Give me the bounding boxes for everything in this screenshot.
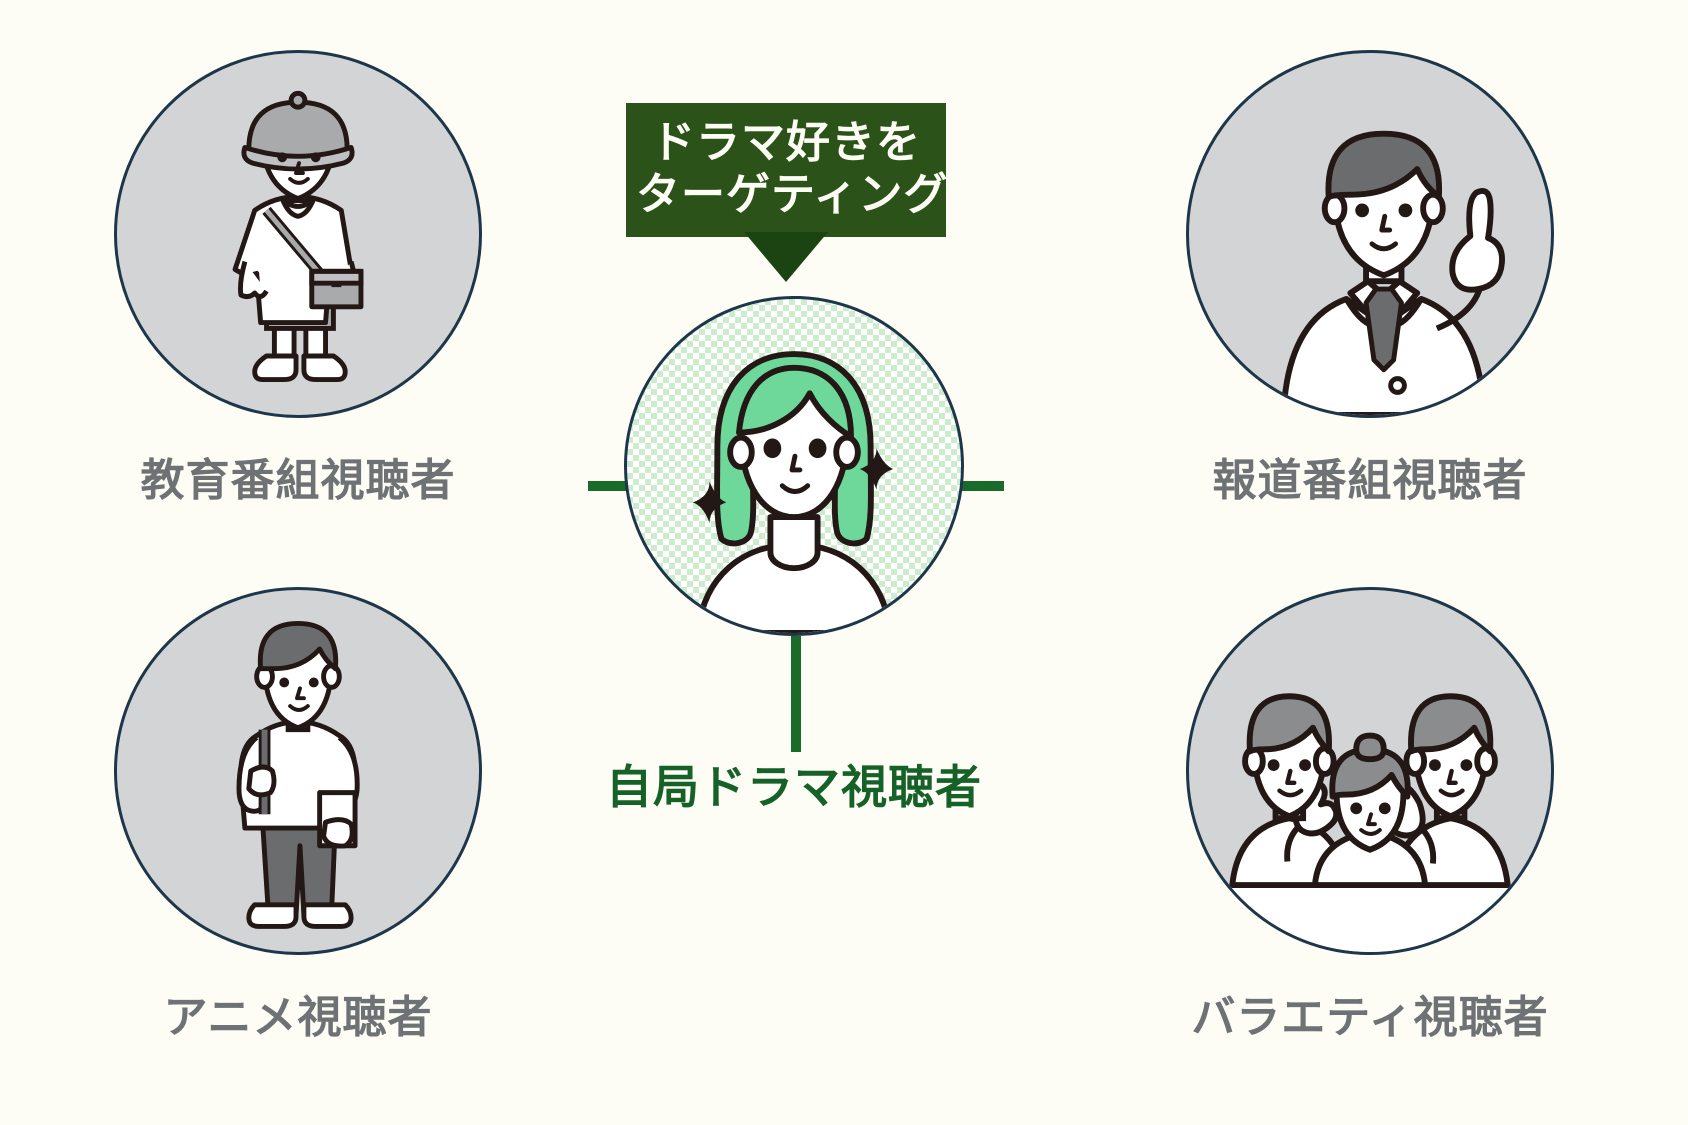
child-with-hat-icon: [117, 53, 479, 415]
node-news-viewers: 報道番組視聴者: [1180, 50, 1560, 508]
woman-green-hair-icon: [627, 299, 961, 633]
center-node-label: 自局ドラマ視聴者: [594, 751, 994, 817]
banner-line-2: ターゲティング: [636, 169, 936, 221]
businessman-pointing-icon: [1189, 53, 1551, 415]
node-br-disc: [1186, 587, 1554, 955]
node-br-label: バラエティ視聴者: [1180, 981, 1560, 1045]
node-tl-label: 教育番組視聴者: [108, 444, 488, 508]
center-avatar-disc: [624, 296, 964, 636]
node-education-viewers: 教育番組視聴者: [108, 50, 488, 508]
banner-down-arrow-icon: [744, 232, 828, 282]
node-variety-viewers: バラエティ視聴者: [1180, 587, 1560, 1045]
node-bl-label: アニメ視聴者: [108, 981, 488, 1045]
banner-line-1: ドラマ好きを: [636, 117, 936, 169]
center-stem-connector: [791, 690, 801, 752]
node-tr-label: 報道番組視聴者: [1180, 444, 1560, 508]
node-anime-viewers: アニメ視聴者: [108, 587, 488, 1045]
family-group-icon: [1189, 590, 1551, 952]
infographic-canvas: ドラマ好きを ターゲティング: [0, 0, 1688, 1125]
node-tr-disc: [1186, 50, 1554, 418]
node-tl-disc: [114, 50, 482, 418]
center-target-node: 自局ドラマ視聴者: [594, 296, 994, 636]
node-bl-disc: [114, 587, 482, 955]
young-man-backpack-icon: [117, 590, 479, 952]
targeting-banner: ドラマ好きを ターゲティング: [626, 103, 946, 237]
